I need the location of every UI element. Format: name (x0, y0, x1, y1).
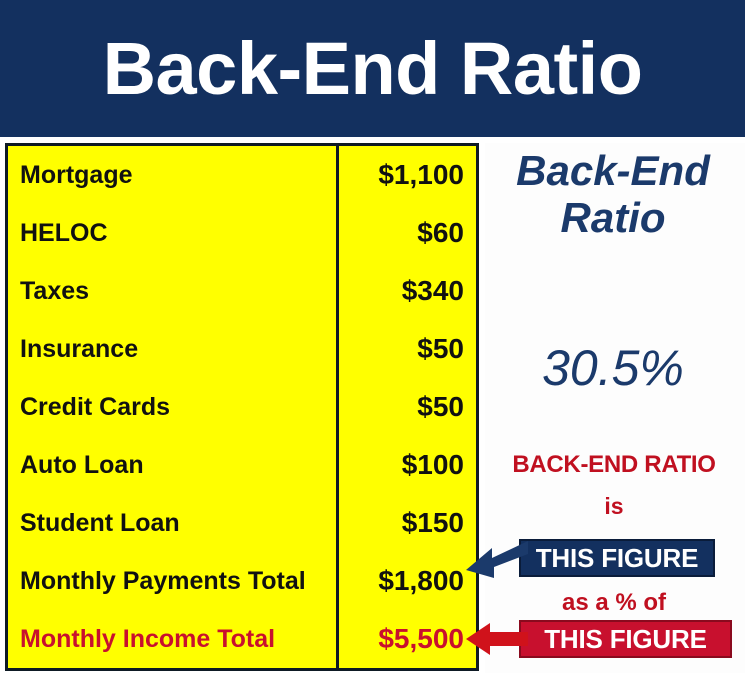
table-row: Insurance $50 (8, 320, 476, 378)
explanation-panel: Back-End Ratio 30.5% BACK-END RATIO is a… (485, 143, 745, 673)
table-cell-value: $60 (336, 217, 476, 249)
table-row-payments-total: Monthly Payments Total $1,800 (8, 552, 476, 610)
table-cell-value: $1,800 (336, 565, 476, 597)
ratio-heading: Back-End Ratio (485, 147, 741, 241)
table-cell-value: $150 (336, 507, 476, 539)
table-row: Credit Cards $50 (8, 378, 476, 436)
table-cell-value: $340 (336, 275, 476, 307)
budget-table: Mortgage $1,100 HELOC $60 Taxes $340 Ins… (5, 143, 479, 671)
table-cell-label: Credit Cards (8, 393, 336, 422)
table-cell-label: Mortgage (8, 161, 336, 190)
table-cell-value: $5,500 (336, 623, 476, 655)
this-figure-box-navy: THIS FIGURE (519, 539, 715, 577)
table-row: HELOC $60 (8, 204, 476, 262)
table-row: Mortgage $1,100 (8, 146, 476, 204)
table-cell-value: $50 (336, 391, 476, 423)
table-row: Taxes $340 (8, 262, 476, 320)
table-cell-value: $50 (336, 333, 476, 365)
table-row: Auto Loan $100 (8, 436, 476, 494)
page-title: Back-End Ratio (103, 32, 643, 106)
this-figure-box-red: THIS FIGURE (519, 620, 732, 658)
table-cell-value: $1,100 (336, 159, 476, 191)
arrow-red-icon (466, 621, 528, 657)
table-cell-label: Taxes (8, 277, 336, 306)
table-cell-label: Monthly Payments Total (8, 567, 336, 596)
table-row: Student Loan $150 (8, 494, 476, 552)
table-cell-label: HELOC (8, 219, 336, 248)
infographic-page: Back-End Ratio Mortgage $1,100 HELOC $60… (0, 0, 745, 673)
table-cell-label: Auto Loan (8, 451, 336, 480)
callout-connector-is: is (485, 493, 743, 520)
table-cell-label: Monthly Income Total (8, 625, 336, 654)
header-banner: Back-End Ratio (0, 0, 745, 137)
table-row-income-total: Monthly Income Total $5,500 (8, 610, 476, 668)
callout-connector-percent-of: as a % of (485, 589, 743, 617)
table-cell-label: Student Loan (8, 509, 336, 538)
callout-title: BACK-END RATIO (485, 451, 743, 479)
table-cell-label: Insurance (8, 335, 336, 364)
ratio-value: 30.5% (485, 343, 741, 393)
arrow-navy-icon (466, 540, 528, 586)
table-cell-value: $100 (336, 449, 476, 481)
